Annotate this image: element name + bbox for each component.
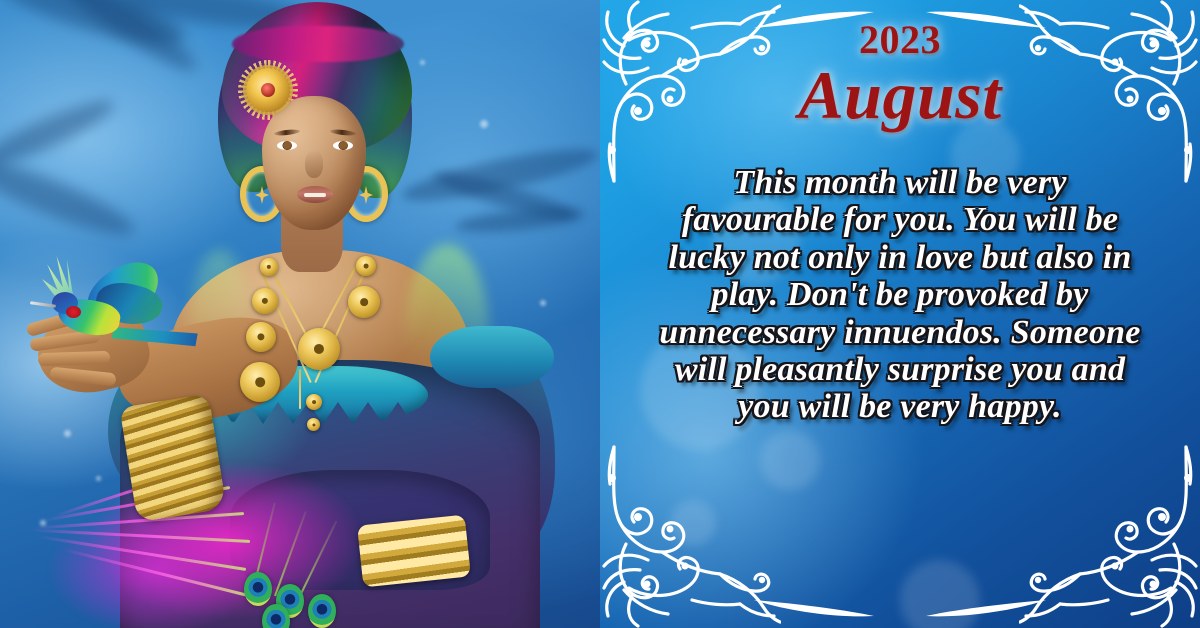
snow-particle — [480, 120, 488, 128]
jeweled-brooch — [246, 68, 290, 112]
finger — [38, 351, 110, 367]
necklace-coin — [260, 258, 278, 276]
necklace-coin — [348, 286, 380, 318]
necklace-chain — [299, 369, 301, 409]
necklace-pendant — [306, 394, 322, 410]
necklace-coin — [240, 362, 280, 402]
eye-left — [277, 141, 297, 150]
turban-band — [232, 26, 404, 62]
necklace-coin — [356, 256, 376, 276]
necklace-pendant — [307, 418, 320, 431]
peacock-eye-feather — [308, 594, 336, 628]
dress-ruffle-right — [430, 326, 554, 388]
illustration-panel — [0, 0, 600, 628]
necklace-coin — [246, 322, 276, 352]
ornament-bottom-right-icon — [1019, 445, 1200, 628]
hummingbird-throat — [66, 306, 81, 318]
snow-particle — [540, 300, 546, 306]
necklace-coin — [252, 288, 278, 314]
month-label: August — [600, 56, 1200, 135]
gold-arm-cuff — [119, 394, 226, 523]
gold-wrist-bangles — [357, 515, 471, 588]
woman-figure — [0, 0, 600, 628]
lips — [297, 186, 333, 203]
snow-particle — [420, 60, 425, 65]
horoscope-banner: 2023 August This month will be very favo… — [0, 0, 1200, 628]
fortune-text: This month will be very favourable for y… — [656, 164, 1144, 426]
bokeh-circle — [760, 430, 820, 490]
eye-right — [333, 141, 353, 150]
bokeh-circle — [900, 560, 980, 628]
necklace-coin — [298, 328, 340, 370]
bokeh-circle — [670, 500, 716, 546]
text-panel: 2023 August This month will be very favo… — [600, 0, 1200, 628]
peacock-eye-feather — [244, 572, 272, 606]
nose — [305, 150, 323, 178]
